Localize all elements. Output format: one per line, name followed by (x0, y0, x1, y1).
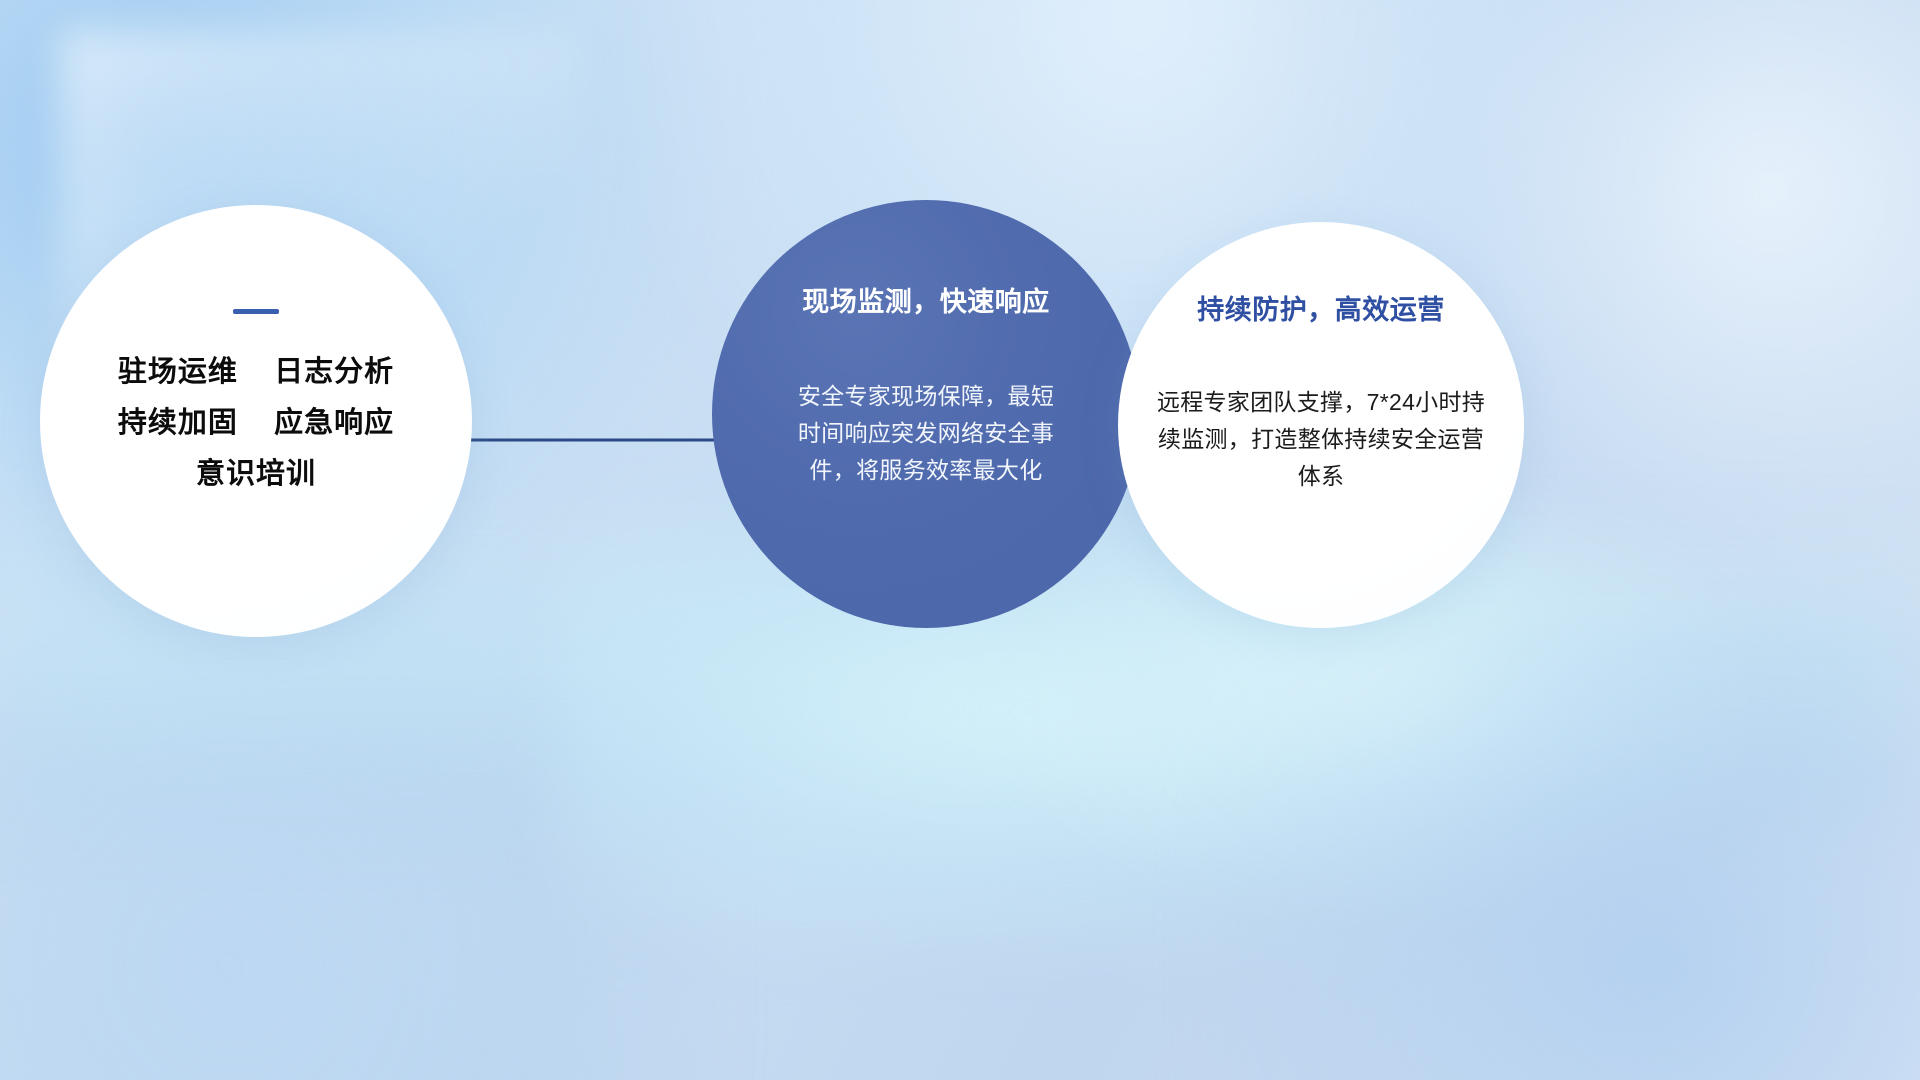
capability-circle-right[interactable]: 持续防护，高效运营 远程专家团队支撑，7*24小时持续监测，打造整体持续安全运营… (1118, 222, 1524, 628)
right-circle-body: 远程专家团队支撑，7*24小时持续监测，打造整体持续安全运营体系 (1156, 384, 1486, 496)
background-glow-bottom-right (1200, 620, 1920, 1080)
divider-dash (233, 309, 279, 314)
capability-circle-center[interactable]: 现场监测，快速响应 安全专家现场保障，最短时间响应突发网络安全事件，将服务效率最… (712, 200, 1140, 628)
capability-circle-left[interactable]: 驻场运维 日志分析 持续加固 应急响应 意识培训 (40, 205, 472, 637)
slide-canvas: 驻场运维 日志分析 持续加固 应急响应 意识培训 现场监测，快速响应 安全专家现… (0, 0, 1920, 1080)
center-circle-body: 安全专家现场保障，最短时间响应突发网络安全事件，将服务效率最大化 (791, 378, 1061, 490)
capability-list: 驻场运维 日志分析 持续加固 应急响应 意识培训 (118, 358, 394, 489)
right-circle-title: 持续防护，高效运营 (1197, 296, 1445, 326)
capability-line-1: 驻场运维 日志分析 (118, 358, 394, 387)
capability-line-3: 意识培训 (196, 460, 316, 489)
center-circle-title: 现场监测，快速响应 (802, 288, 1050, 318)
capability-line-2: 持续加固 应急响应 (118, 409, 394, 438)
